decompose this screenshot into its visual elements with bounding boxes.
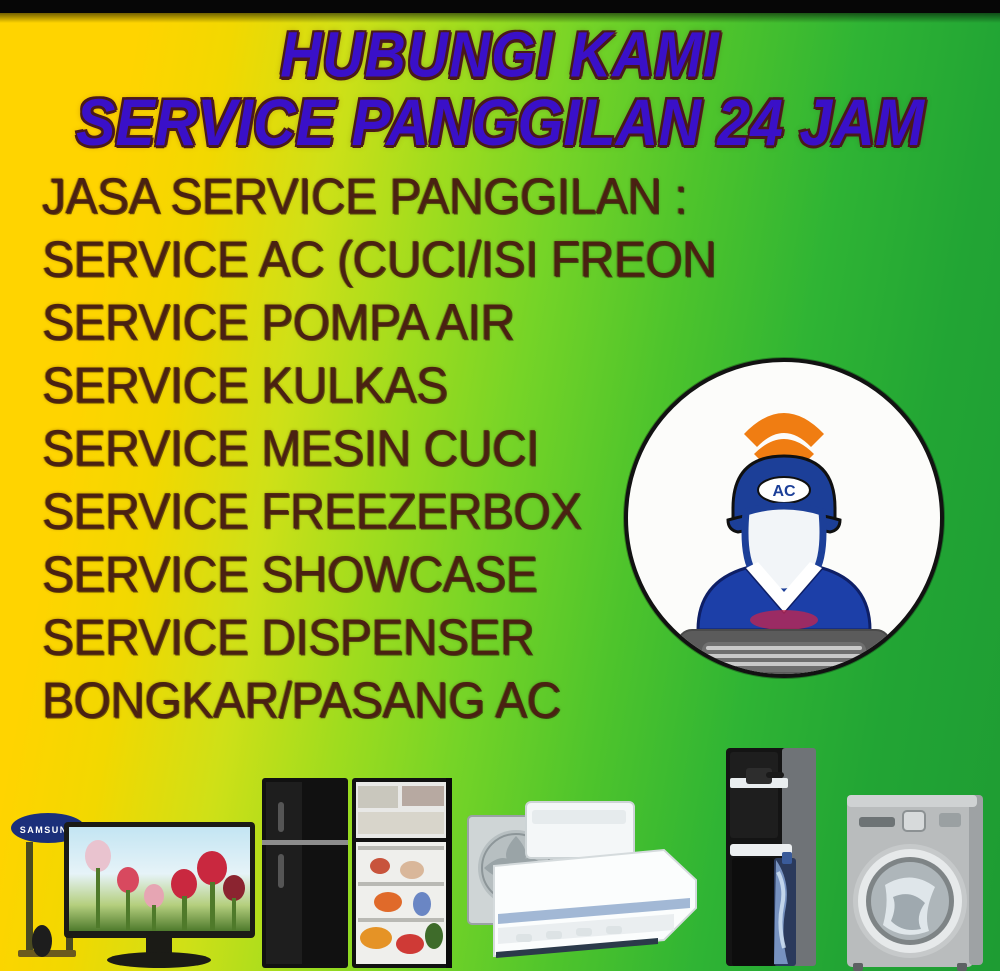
split-ac-icon — [458, 788, 708, 971]
service-item-pompa-air: SERVICE POMPA AIR — [42, 298, 702, 349]
service-advertisement-poster: HUBUNGI KAMI SERVICE PANGGILAN 24 JAM JA… — [0, 0, 1000, 971]
service-item-showcase: SERVICE SHOWCASE — [42, 550, 702, 601]
split-air-conditioner — [458, 788, 708, 971]
service-item-ac: SERVICE AC (CUCI/ISI FREON — [42, 235, 702, 286]
technician-badge: AC — [624, 358, 944, 678]
washing-machine — [843, 793, 986, 971]
water-dispenser — [722, 748, 820, 971]
service-item-kulkas: SERVICE KULKAS — [42, 361, 702, 412]
service-list: JASA SERVICE PANGGILAN : SERVICE AC (CUC… — [42, 172, 702, 739]
service-item-mesin-cuci: SERVICE MESIN CUCI — [42, 424, 702, 475]
refrigerator — [262, 778, 452, 971]
television — [62, 812, 257, 971]
service-list-heading: JASA SERVICE PANGGILAN : — [42, 172, 702, 223]
washing-machine-icon — [843, 793, 986, 971]
technician-ac-icon: AC — [628, 362, 940, 674]
service-item-freezerbox: SERVICE FREEZERBOX — [42, 487, 702, 538]
cap-label: AC — [772, 483, 796, 500]
water-dispenser-icon — [722, 748, 820, 971]
service-item-bongkar-pasang-ac: BONGKAR/PASANG AC — [42, 676, 702, 727]
service-item-dispenser: SERVICE DISPENSER — [42, 613, 702, 664]
refrigerator-icon — [262, 778, 452, 971]
television-icon — [62, 812, 257, 971]
top-black-border — [0, 0, 1000, 13]
